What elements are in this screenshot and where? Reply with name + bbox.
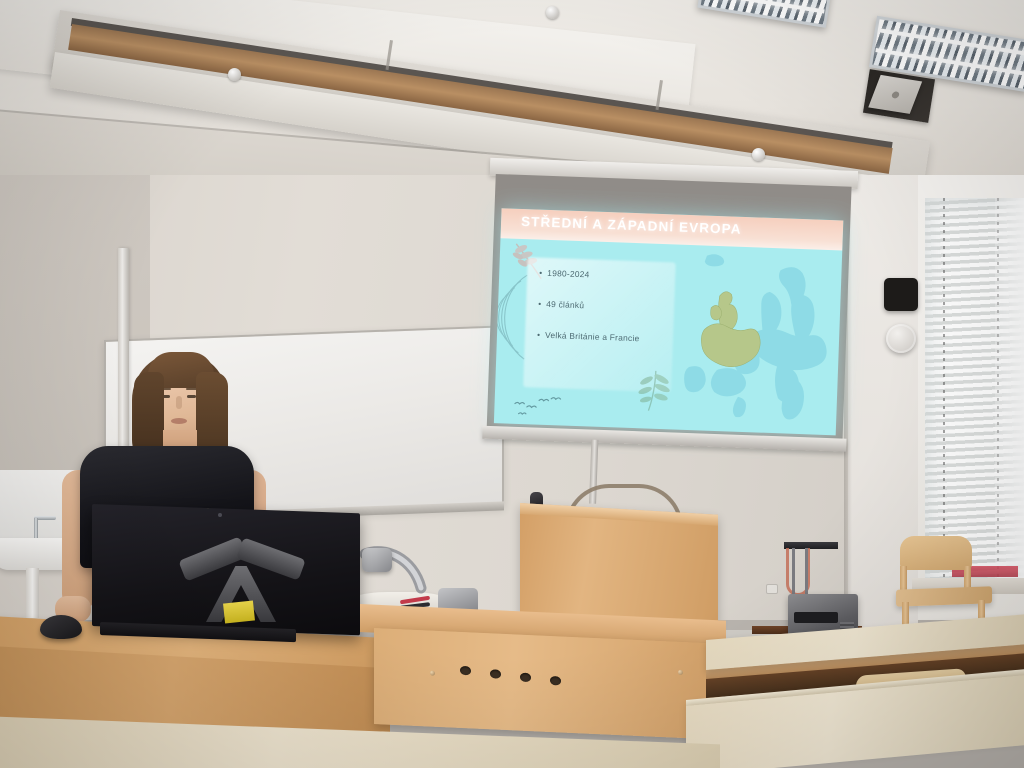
presenter-mouth [171,418,187,424]
vent-plate [868,75,922,114]
ceiling-spotlight [752,148,765,161]
lectern-vent-hole [550,676,561,685]
window-daylight [995,198,1024,584]
leaf-sprig-green-icon [636,368,674,413]
lectern-vent-hole [520,673,531,682]
faucet[interactable] [34,518,38,540]
ceiling-spotlight [546,6,559,19]
bullet-text: 1980-2024 [547,268,590,280]
europe-map-icon [679,245,837,428]
monitor-indicator-led [218,513,222,517]
sink-drain-pipe [26,568,39,618]
blind-cord[interactable] [943,198,945,584]
projection-screen: STŘEDNÍ A ZÁPADNÍ EVROPA [486,168,852,463]
chair-post [900,566,907,592]
lectern-screw [678,670,683,675]
presenter-nose [176,396,182,409]
bullet-text: 49 článků [546,299,584,310]
slide-bullet-list: • 1980-2024 • 49 článků • Velká Británie… [536,268,699,367]
lectern-screw [430,671,435,676]
bullet-text: Velká Británie a Francie [545,330,640,343]
wall-socket[interactable] [766,584,778,594]
wooden-chair-back[interactable] [900,536,972,570]
printer-paper-slot [794,612,838,623]
computer-mouse[interactable] [40,615,82,639]
wall-speaker [886,324,916,353]
slide-bullet: • 49 článků [538,299,698,315]
lectern-vent-hole [490,669,501,678]
lectern-base [374,628,722,740]
monitor-warning-sticker [223,600,255,623]
wall-clock [884,278,918,311]
slide-bullet: • Velká Británie a Francie [537,330,697,346]
flying-birds-icon [512,394,571,420]
projected-slide: STŘEDNÍ A ZÁPADNÍ EVROPA [494,208,843,435]
lectern-vent-hole [460,666,471,675]
document-camera-head[interactable] [362,548,392,572]
lecture-hall-scene: STŘEDNÍ A ZÁPADNÍ EVROPA [0,0,1024,768]
presenter-eye [187,395,196,398]
ceiling-spotlight [228,68,241,81]
